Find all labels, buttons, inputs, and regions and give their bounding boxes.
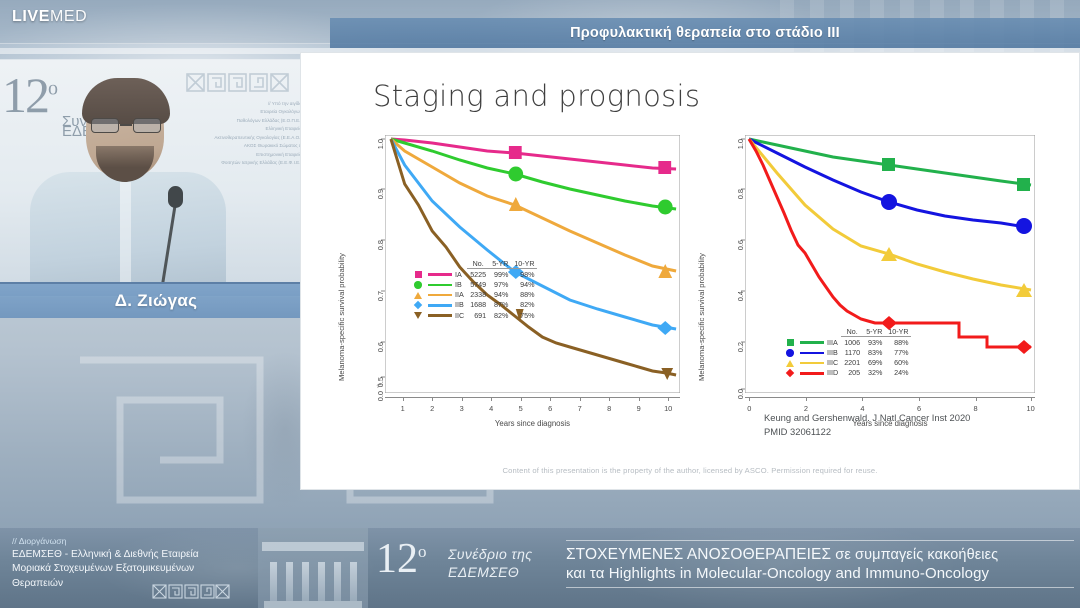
livemed-logo: LIVEMED xyxy=(12,8,87,26)
chart-a-xtick: 7 xyxy=(578,404,582,413)
banner-logo-ordinal: o xyxy=(418,542,427,561)
chart-a-legend: No. 5-YR 10-YR IA 5225 99% 98% xyxy=(411,259,537,320)
chart-b-legend-no: 2201 xyxy=(841,358,863,368)
chart-a-legend-label: IIC xyxy=(455,310,467,320)
chart-a-legend-5yr: 82% xyxy=(489,310,511,320)
chart-a-xtick: 10 xyxy=(664,404,672,413)
chart-a-legend-10yr: 94% xyxy=(511,279,537,289)
chart-a-marker-IIB-10yr xyxy=(657,321,673,335)
speaker-shirt-placket xyxy=(120,182,131,296)
chart-a-plot-area: 1.0 0.9 0.8 0.7 0.6 0.5 0.0 No. 5-YR 10-… xyxy=(385,135,680,393)
chart-a-series-IA xyxy=(391,139,676,169)
chart-a-legend-label: IB xyxy=(455,279,467,289)
chart-a-legend-header: 10-YR xyxy=(511,259,537,269)
organizer-line: Μοριακά Στοχευμένων Εξατομικευμένων xyxy=(12,562,257,576)
chart-a-ytick: 0.9 xyxy=(376,189,385,199)
chart-b-legend-5yr: 93% xyxy=(863,337,885,348)
banner-congress-logo: 12o Συνέδριο της ΕΔΕΜΣΕΘ xyxy=(376,538,561,598)
chart-b-xtick: 8 xyxy=(973,404,977,413)
chart-a-legend-no: 5749 xyxy=(467,279,489,289)
chart-b-legend-no: 1006 xyxy=(841,337,863,348)
chart-b-legend-label: IIIB xyxy=(827,347,841,357)
chart-a-legend-5yr: 94% xyxy=(489,290,511,300)
chart-a-legend-5yr: 87% xyxy=(489,300,511,310)
chart-a-ytick: 0.6 xyxy=(376,342,385,352)
session-title-bar: Προφυλακτική θεραπεία στο στάδιο III xyxy=(330,18,1080,48)
chart-a-x-axis: 1 2 3 4 5 6 7 8 9 10 Years since diagnos… xyxy=(385,397,680,431)
organizer-line: ΕΔΕΜΣΕΘ - Ελληνική & Διεθνής Εταιρεία xyxy=(12,548,257,562)
chart-b-legend-no: 205 xyxy=(841,368,863,378)
chart-a-legend-label: IIA xyxy=(455,290,467,300)
chart-a-marker-IB-10yr xyxy=(658,200,673,215)
chart-a-xtick: 9 xyxy=(637,404,641,413)
chart-b-plot-area: 1.0 0.8 0.6 0.4 0.2 0.0 No. 5-YR 10-YR xyxy=(745,135,1035,393)
chart-a-legend-no: 1688 xyxy=(467,300,489,310)
chart-a-xtick: 4 xyxy=(489,404,493,413)
congress-banner: // Διοργάνωση ΕΔΕΜΣΕΘ - Ελληνική & Διεθν… xyxy=(0,528,1080,608)
presentation-slide[interactable]: Staging and prognosis Melanoma-specific … xyxy=(300,52,1080,490)
chart-a-legend-10yr: 75% xyxy=(511,310,537,320)
speaker-glasses xyxy=(90,118,162,134)
citation-line-1: Keung and Gershenwald. J Natl Cancer Ins… xyxy=(764,411,970,425)
slide-title: Staging and prognosis xyxy=(373,79,700,113)
backdrop-ordinal: o xyxy=(48,77,56,99)
chart-a-legend-header: No. xyxy=(467,259,489,269)
chart-a-xtick: 6 xyxy=(548,404,552,413)
backdrop-sponsor-line: Εταιρεία Ογκολόγων xyxy=(162,108,302,116)
chart-a-series-IB xyxy=(391,139,676,209)
banner-monument-photo xyxy=(258,528,368,608)
chart-b-legend-5yr: 83% xyxy=(863,347,885,357)
backdrop-sponsor-line: Φοιτητών Ιατρικής Ελλάδας (Ε.Ε.Φ.Ι.Ε.) xyxy=(162,159,302,167)
chart-a-legend-5yr: 99% xyxy=(489,269,511,280)
chart-a-legend-10yr: 98% xyxy=(511,269,537,280)
chart-b-xtick: 10 xyxy=(1027,404,1035,413)
banner-meander-icon xyxy=(152,584,230,600)
slide-citation: Keung and Gershenwald. J Natl Cancer Ins… xyxy=(764,411,970,439)
chart-a-legend-no: 691 xyxy=(467,310,489,320)
chart-a-ytick: 0.8 xyxy=(376,240,385,250)
chart-a-xtick: 8 xyxy=(607,404,611,413)
chart-b-legend-label: IIIA xyxy=(827,337,841,348)
logo-live-text: LIVE xyxy=(12,8,50,25)
backdrop-sponsor-text: // Υπό την αιγίδα Εταιρεία Ογκολόγων Παθ… xyxy=(162,100,302,168)
chart-a-xtick: 3 xyxy=(460,404,464,413)
chart-a-legend-5yr: 97% xyxy=(489,279,511,289)
backdrop-sponsor-line: ΑΚΟΣ Θωρακικό Σώματος & xyxy=(162,142,302,150)
banner-headline-block: ΣΤΟΧΕΥΜΕΝΕΣ ΑΝΟΣΟΘΕΡΑΠΕΙΕΣ σε συμπαγείς … xyxy=(566,540,1074,588)
chart-a-series-IIA xyxy=(391,139,676,271)
chart-b-ytick: 0.0 xyxy=(736,389,745,399)
chart-a-legend-header: 5-YR xyxy=(489,259,511,269)
chart-b-ytick: 1.0 xyxy=(736,139,745,149)
banner-logo-line1: Συνέδριο της xyxy=(448,546,532,562)
banner-logo-number: 12 xyxy=(376,536,418,582)
chart-b-legend-row: IIIB 1170 83% 77% xyxy=(783,347,911,357)
citation-line-2: PMID 32061122 xyxy=(764,425,970,439)
chart-b-ytick: 0.6 xyxy=(736,240,745,250)
chart-a-y-axis-label: Melanoma-specific survival probability xyxy=(337,131,346,381)
microphone-icon xyxy=(168,186,183,208)
chart-b-legend-row: IIIC 2201 69% 60% xyxy=(783,358,911,368)
chart-a-legend-row: IIB 1688 87% 82% xyxy=(411,300,537,310)
chart-b-y-axis-label: Melanoma-specific survival probability xyxy=(697,131,706,381)
logo-med-text: MED xyxy=(50,8,87,25)
chart-b-series-IIIB xyxy=(749,139,1031,228)
chart-a-legend-row: IIC 691 82% 75% xyxy=(411,310,537,320)
chart-b-legend-5yr: 32% xyxy=(863,368,885,378)
banner-rule-top xyxy=(566,540,1074,541)
speaker-name: Δ. Ζιώγας xyxy=(115,291,198,311)
banner-logo-line2: ΕΔΕΜΣΕΘ xyxy=(448,564,519,580)
backdrop-sponsor-line: // Υπό την αιγίδα xyxy=(162,100,302,108)
chart-b-ytick: 0.2 xyxy=(736,342,745,352)
chart-a-xtick: 1 xyxy=(401,404,405,413)
chart-a-xtick: 2 xyxy=(430,404,434,413)
chart-b-legend-10yr: 24% xyxy=(885,368,911,378)
chart-a-legend-10yr: 88% xyxy=(511,290,537,300)
organizer-label: // Διοργάνωση xyxy=(12,536,257,546)
chart-b-legend-header: 10-YR xyxy=(885,327,911,337)
chart-a-legend-label: IA xyxy=(455,269,467,280)
chart-a-ytick: 1.0 xyxy=(376,139,385,149)
chart-a-legend-row: IIA 2338 94% 88% xyxy=(411,290,537,300)
chart-b-ytick: 0.8 xyxy=(736,189,745,199)
banner-headline-rest: σε συμπαγείς κακοήθειες xyxy=(831,547,998,563)
chart-stage-i-ii: Melanoma-specific survival probability xyxy=(339,131,684,461)
chart-a-marker-IA-10yr xyxy=(658,161,671,174)
chart-b-legend-5yr: 69% xyxy=(863,358,885,368)
banner-headline-1: ΣΤΟΧΕΥΜΕΝΕΣ ΑΝΟΣΟΘΕΡΑΠΕΙΕΣ σε συμπαγείς … xyxy=(566,546,1074,564)
chart-b-marker-IIIC-5yr xyxy=(881,247,897,261)
backdrop-sponsor-line: Ελληνική Εταιρεία xyxy=(162,125,302,133)
chart-a-legend-no: 2338 xyxy=(467,290,489,300)
chart-b-legend-header: No. xyxy=(841,327,863,337)
session-title: Προφυλακτική θεραπεία στο στάδιο III xyxy=(570,25,840,41)
chart-a-ytick: 0.0 xyxy=(376,391,385,401)
chart-a-ytick: 0.7 xyxy=(376,291,385,301)
chart-a-legend-no: 5225 xyxy=(467,269,489,280)
chart-a-marker-IA-5yr xyxy=(509,146,522,159)
backdrop-sponsor-line: Παθολόγων Ελλάδας (Ε.Ο.Π.Ε.) xyxy=(162,117,302,125)
chart-b-legend: No. 5-YR 10-YR IIIA 1006 93% 88% xyxy=(783,327,911,378)
chart-b-marker-IIID-10yr xyxy=(1016,340,1032,354)
chart-a-legend-row: IA 5225 99% 98% xyxy=(411,269,537,280)
chart-b-legend-10yr: 77% xyxy=(885,347,911,357)
backdrop-sponsor-line: Ακτινοθεραπευτικής Ογκολογίας (Ε.Ε.Α.Ο.) xyxy=(162,134,302,142)
chart-b-marker-IIIA-10yr xyxy=(1017,178,1030,191)
chart-b-legend-no: 1170 xyxy=(841,347,863,357)
speaker-nameplate: Δ. Ζιώγας xyxy=(0,284,312,318)
backdrop-sponsor-line: Επιστημονική Εταιρεία xyxy=(162,151,302,159)
banner-rule-bottom xyxy=(566,587,1074,588)
chart-b-legend-row: IIIA 1006 93% 88% xyxy=(783,337,911,348)
chart-b-legend-10yr: 60% xyxy=(885,358,911,368)
chart-b-marker-IIIB-5yr xyxy=(881,194,897,210)
chart-a-legend-row: IB 5749 97% 94% xyxy=(411,279,537,289)
chart-a-xtick: 5 xyxy=(519,404,523,413)
backdrop-meander-icon xyxy=(186,72,306,94)
chart-b-xtick: 0 xyxy=(747,404,751,413)
slide-disclaimer: Content of this presentation is the prop… xyxy=(301,466,1079,475)
backdrop-number: 12 xyxy=(2,67,48,123)
speaker-video-panel[interactable]: 12o Συνέδριο της ΕΔΕΜΣΕΘ // Υπό την αιγί… xyxy=(0,60,306,296)
chart-b-ytick: 0.4 xyxy=(736,291,745,301)
chart-b-marker-IIIB-10yr xyxy=(1016,218,1032,234)
banner-headline-2: και τα Highlights in Molecular-Oncology … xyxy=(566,565,1074,582)
chart-b-legend-label: IIID xyxy=(827,368,841,378)
chart-b-legend-header: 5-YR xyxy=(863,327,885,337)
chart-b-legend-label: IIIC xyxy=(827,358,841,368)
chart-a-legend-10yr: 82% xyxy=(511,300,537,310)
chart-b-legend-row: IIID 205 32% 24% xyxy=(783,368,911,378)
chart-a-x-axis-label: Years since diagnosis xyxy=(385,419,680,428)
chart-a-legend-label: IIB xyxy=(455,300,467,310)
chart-b-legend-10yr: 88% xyxy=(885,337,911,348)
banner-headline-caps: ΣΤΟΧΕΥΜΕΝΕΣ ΑΝΟΣΟΘΕΡΑΠΕΙΕΣ xyxy=(566,546,831,563)
chart-b-marker-IIIA-5yr xyxy=(882,158,895,171)
chart-a-marker-IB-5yr xyxy=(508,167,523,182)
